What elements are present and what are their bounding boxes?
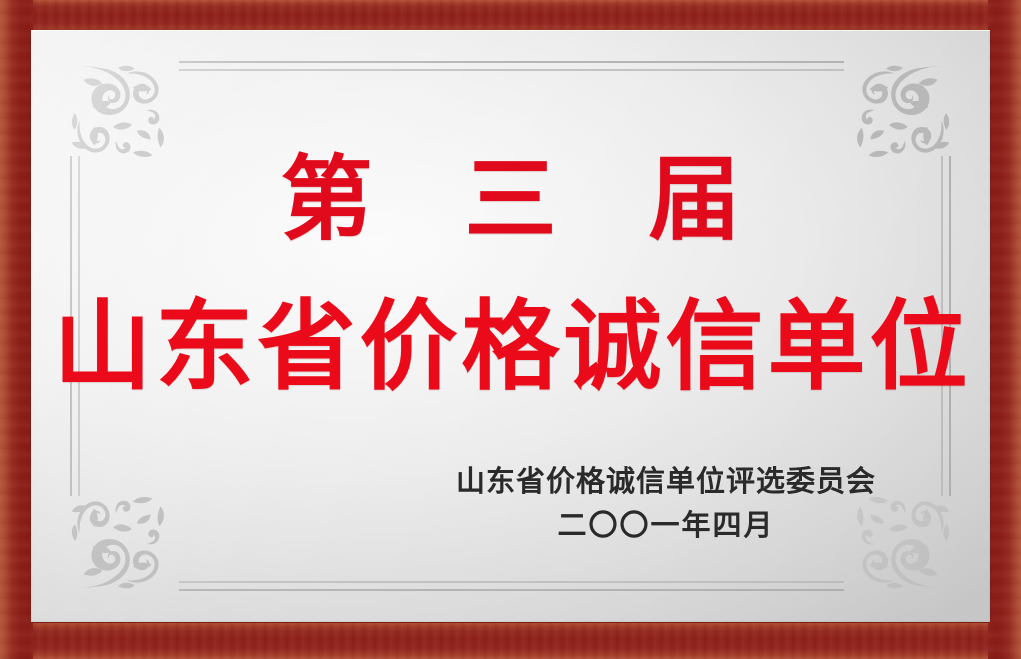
frame-left (0, 0, 33, 659)
plaque-panel: 第 三 届 山东省价格诚信单位 山东省价格诚信单位评选委员会 二〇〇一年四月 (31, 30, 990, 622)
award-title-line-2: 山东省价格诚信单位 (31, 298, 990, 396)
rule-top-inner (179, 69, 844, 71)
issue-date: 二〇〇一年四月 (406, 510, 926, 540)
rule-bottom-outer (179, 589, 844, 591)
award-plaque: 第 三 届 山东省价格诚信单位 山东省价格诚信单位评选委员会 二〇〇一年四月 (0, 0, 1021, 659)
issuing-organization: 山东省价格诚信单位评选委员会 (406, 466, 926, 496)
rule-top-outer (179, 61, 844, 63)
frame-bottom (0, 623, 1021, 659)
frame-top (0, 0, 1021, 33)
rule-bottom-inner (179, 581, 844, 583)
signature-block: 山东省价格诚信单位评选委员会 二〇〇一年四月 (406, 466, 926, 541)
corner-ornament-bottom-left-icon (62, 480, 180, 598)
frame-right (988, 0, 1021, 659)
award-title-line-1: 第 三 届 (31, 154, 990, 246)
